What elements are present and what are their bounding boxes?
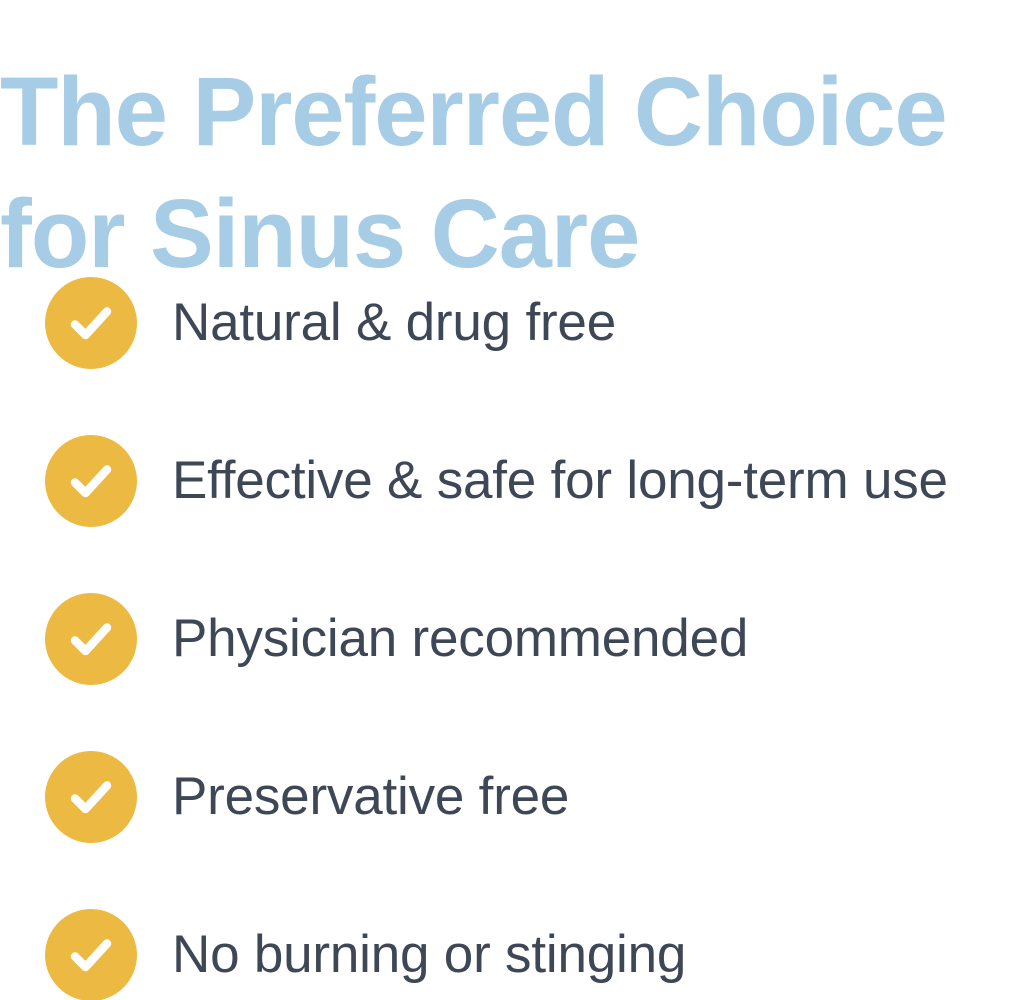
list-item: Natural & drug free <box>0 277 1024 369</box>
promo-graphic: The Preferred Choice for Sinus Care Natu… <box>0 0 1024 1000</box>
list-item: Preservative free <box>0 751 1024 843</box>
list-item: No burning or stinging <box>0 909 1024 1000</box>
list-item-label: Preservative free <box>172 767 569 827</box>
check-icon <box>45 435 137 527</box>
check-icon <box>45 277 137 369</box>
list-item-label: Natural & drug free <box>172 293 616 353</box>
list-item-label: Physician recommended <box>172 609 748 669</box>
benefits-list: Natural & drug free Effective & safe for… <box>0 277 1024 1000</box>
list-item-label: No burning or stinging <box>172 925 686 985</box>
list-item: Physician recommended <box>0 593 1024 685</box>
check-icon <box>45 751 137 843</box>
list-item: Effective & safe for long-term use <box>0 435 1024 527</box>
list-item-label: Effective & safe for long-term use <box>172 451 948 511</box>
page-title: The Preferred Choice for Sinus Care <box>0 51 1024 295</box>
check-icon <box>45 909 137 1000</box>
check-icon <box>45 593 137 685</box>
page-title-line-1: The Preferred Choice <box>0 51 1015 173</box>
